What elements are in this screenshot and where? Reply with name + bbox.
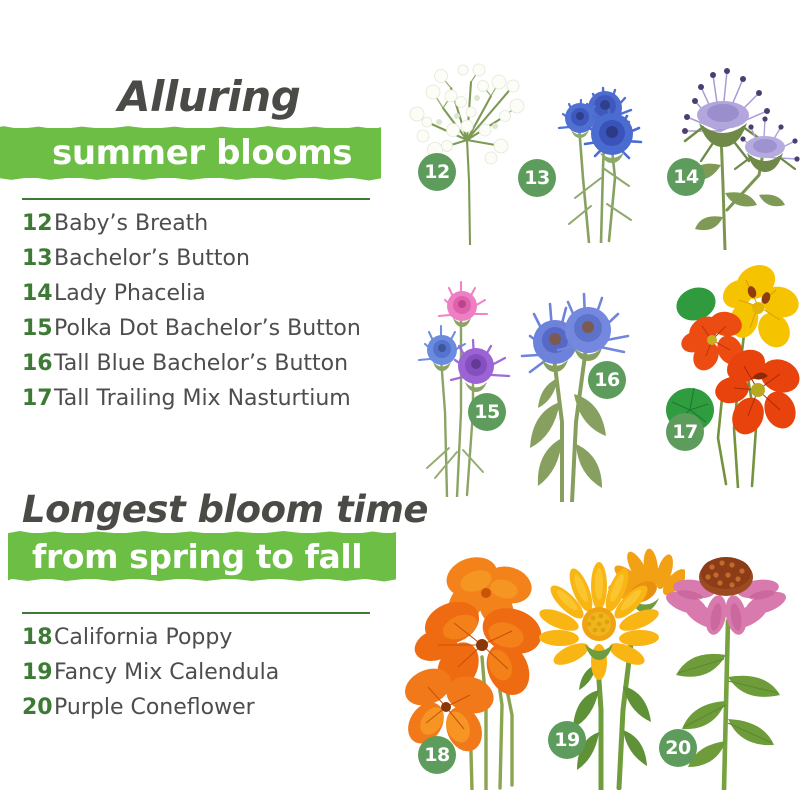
section-2-banner-heading: from spring to fall [32, 537, 362, 576]
plant-badge-18[interactable]: 18 [418, 736, 456, 774]
list-item-label: Fancy Mix Calendula [54, 660, 279, 685]
plant-photo-babys-breath [405, 30, 535, 245]
flower-guide-poster: Alluring summer blooms 12 Baby’s Breath … [0, 0, 800, 800]
plant-badge-12[interactable]: 12 [418, 153, 456, 191]
plant-badge-17[interactable]: 17 [666, 413, 704, 451]
section-1-divider [22, 198, 370, 200]
section-2-divider [22, 612, 370, 614]
list-item[interactable]: 17 Tall Trailing Mix Nasturtium [22, 386, 361, 421]
list-item[interactable]: 16 Tall Blue Bachelor’s Button [22, 351, 361, 386]
section-1-banner: summer blooms [0, 128, 378, 178]
list-item-label: Tall Trailing Mix Nasturtium [54, 386, 351, 411]
plant-badge-16[interactable]: 16 [588, 361, 626, 399]
plant-photo-lady-phacelia [655, 35, 800, 250]
section-2-plant-list: 18 California Poppy 19 Fancy Mix Calendu… [22, 625, 279, 730]
lady-phacelia-illustration [655, 35, 800, 250]
list-item[interactable]: 13 Bachelor’s Button [22, 246, 361, 281]
list-item-label: California Poppy [54, 625, 232, 650]
list-item-label: Lady Phacelia [54, 281, 206, 306]
list-item-number: 13 [22, 246, 54, 271]
list-item-number: 18 [22, 625, 54, 650]
list-item-label: Purple Coneflower [54, 695, 255, 720]
list-item-number: 19 [22, 660, 54, 685]
list-item-label: Polka Dot Bachelor’s Button [54, 316, 361, 341]
list-item[interactable]: 15 Polka Dot Bachelor’s Button [22, 316, 361, 351]
bachelors-button-illustration [545, 28, 655, 243]
list-item[interactable]: 19 Fancy Mix Calendula [22, 660, 279, 695]
list-item-number: 12 [22, 211, 54, 236]
plant-badge-20[interactable]: 20 [659, 729, 697, 767]
list-item-number: 20 [22, 695, 54, 720]
plant-photo-tall-trailing-mix-nasturtium [660, 258, 800, 488]
list-item-number: 15 [22, 316, 54, 341]
list-item-number: 16 [22, 351, 54, 376]
list-item[interactable]: 12 Baby’s Breath [22, 211, 361, 246]
section-2-script-heading: Longest bloom time [22, 488, 428, 531]
list-item-label: Baby’s Breath [54, 211, 208, 236]
list-item[interactable]: 18 California Poppy [22, 625, 279, 660]
plant-badge-14[interactable]: 14 [667, 158, 705, 196]
section-1-script-heading: Alluring [118, 72, 300, 121]
section-1-banner-heading: summer blooms [52, 133, 352, 173]
babys-breath-illustration [405, 30, 535, 245]
plant-badge-13[interactable]: 13 [518, 159, 556, 197]
section-2-banner: from spring to fall [10, 533, 393, 579]
nasturtium-illustration [660, 258, 800, 488]
plant-badge-19[interactable]: 19 [548, 721, 586, 759]
section-1-plant-list: 12 Baby’s Breath 13 Bachelor’s Button 14… [22, 211, 361, 421]
plant-photo-bachelors-button [545, 28, 655, 243]
list-item[interactable]: 14 Lady Phacelia [22, 281, 361, 316]
list-item-number: 17 [22, 386, 54, 411]
plant-badge-15[interactable]: 15 [468, 393, 506, 431]
list-item[interactable]: 20 Purple Coneflower [22, 695, 279, 730]
list-item-label: Bachelor’s Button [54, 246, 250, 271]
plant-photo-column: 12 [395, 0, 800, 800]
list-item-number: 14 [22, 281, 54, 306]
text-column: Alluring summer blooms 12 Baby’s Breath … [0, 0, 400, 800]
list-item-label: Tall Blue Bachelor’s Button [54, 351, 348, 376]
